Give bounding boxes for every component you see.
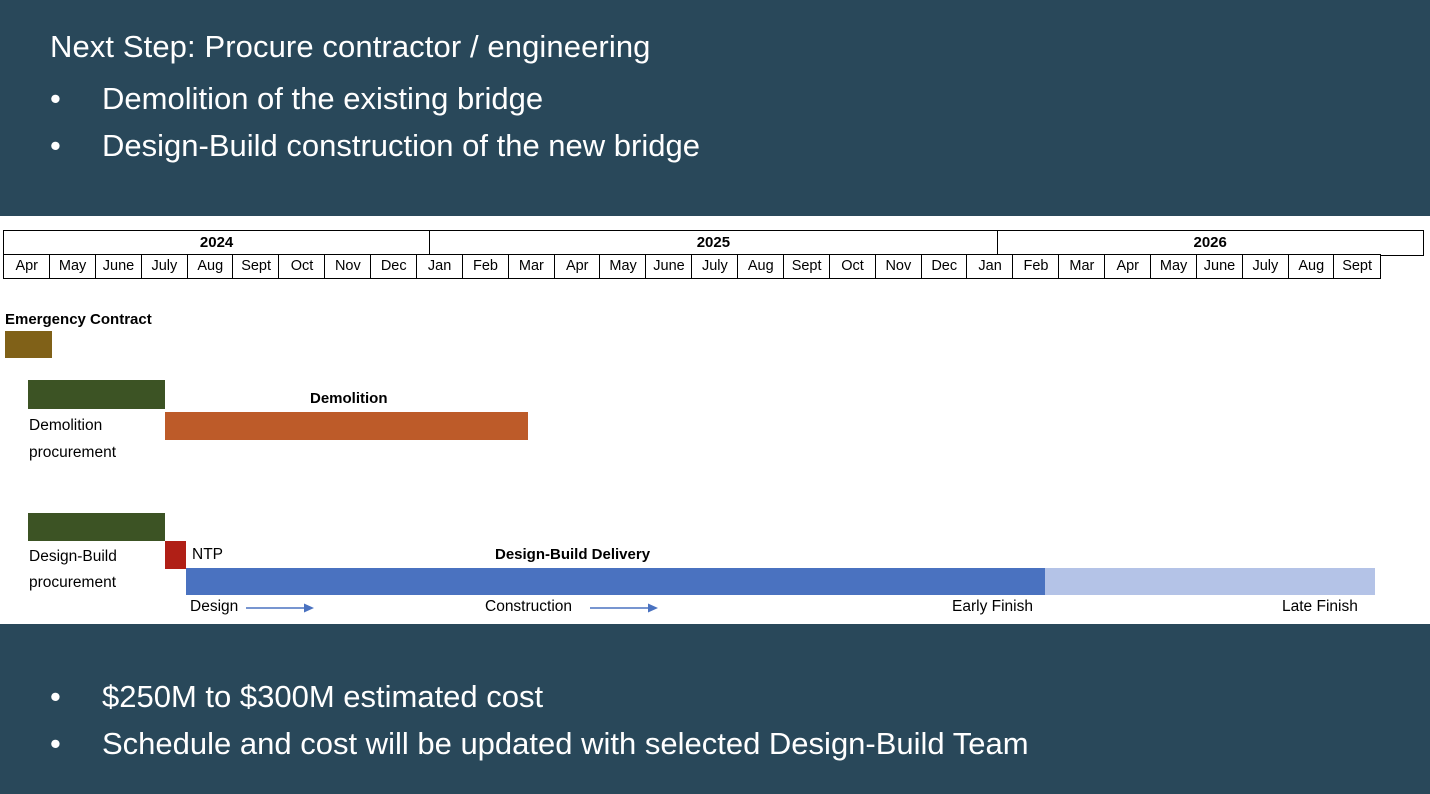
bar-demolition[interactable] (165, 412, 528, 440)
bar-demolition-procurement[interactable] (28, 380, 165, 409)
timeline-month-cell: Jan (966, 254, 1013, 279)
design-arrow-icon (246, 600, 314, 616)
bar-designbuild-delivery-early[interactable] (186, 568, 1045, 595)
timeline-month-cell: Apr (3, 254, 50, 279)
timeline-month-cell: Oct (278, 254, 325, 279)
timeline-month-cell: Feb (1012, 254, 1059, 279)
timeline-month-cell: Mar (508, 254, 555, 279)
timeline-month-cell: July (691, 254, 738, 279)
timeline-header: 2024 2025 2026 Apr May June July Aug Sep… (3, 230, 1427, 278)
timeline-month-cell: Dec (370, 254, 417, 279)
construction-annotation-label: Construction (485, 598, 572, 616)
bullet-dot-icon: • (50, 674, 61, 721)
timeline-month-cell: Aug (737, 254, 784, 279)
timeline-year-2025: 2025 (429, 230, 999, 256)
timeline-month-cell: May (599, 254, 646, 279)
list-item-label: Demolition of the existing bridge (102, 81, 543, 116)
timeline-month-cell: Apr (1104, 254, 1151, 279)
top-bullet-list: • Demolition of the existing bridge • De… (44, 76, 700, 169)
list-item: • $250M to $300M estimated cost (44, 674, 1029, 721)
designbuild-delivery-label: Design-Build Delivery (495, 546, 650, 563)
timeline-year-row: 2024 2025 2026 (3, 230, 1427, 254)
demolition-label: Demolition (310, 390, 388, 407)
timeline-month-cell: Nov (875, 254, 922, 279)
timeline-month-cell: May (49, 254, 96, 279)
bullet-dot-icon: • (50, 76, 61, 123)
bullet-dot-icon: • (50, 123, 61, 170)
list-item: • Design-Build construction of the new b… (44, 123, 700, 170)
list-item-label: Design-Build construction of the new bri… (102, 128, 700, 163)
timeline-month-cell: Oct (829, 254, 876, 279)
top-banner: Next Step: Procure contractor / engineer… (0, 0, 1430, 216)
timeline-month-cell: Aug (187, 254, 234, 279)
list-item: • Schedule and cost will be updated with… (44, 721, 1029, 768)
timeline-month-cell: July (141, 254, 188, 279)
list-item-label: Schedule and cost will be updated with s… (102, 726, 1029, 761)
timeline-month-row: Apr May June July Aug Sept Oct Nov Dec J… (3, 254, 1427, 277)
timeline-month-cell: Sept (232, 254, 279, 279)
timeline-month-cell: Nov (324, 254, 371, 279)
bottom-banner: • $250M to $300M estimated cost • Schedu… (0, 624, 1430, 794)
bar-designbuild-delivery-float[interactable] (1045, 568, 1375, 595)
timeline-month-cell: June (645, 254, 692, 279)
late-finish-label: Late Finish (1282, 598, 1358, 616)
page-title: Next Step: Procure contractor / engineer… (50, 28, 651, 66)
list-item: • Demolition of the existing bridge (44, 76, 700, 123)
emergency-contract-label: Emergency Contract (5, 311, 152, 328)
timeline-month-cell: June (95, 254, 142, 279)
design-annotation-label: Design (190, 598, 238, 616)
designbuild-procurement-label-line2: procurement (29, 570, 116, 596)
timeline-month-cell: Aug (1288, 254, 1335, 279)
demolition-procurement-label-line2: procurement (29, 440, 116, 466)
timeline-month-cell: Feb (462, 254, 509, 279)
timeline-month-cell: Sept (1333, 254, 1380, 279)
early-finish-label: Early Finish (952, 598, 1033, 616)
timeline-month-cell: May (1150, 254, 1197, 279)
ntp-label: NTP (192, 546, 223, 564)
timeline-month-cell: Apr (554, 254, 601, 279)
timeline-month-cell: Dec (921, 254, 968, 279)
construction-arrow-icon (590, 600, 658, 616)
timeline-month-cell: June (1196, 254, 1243, 279)
timeline-year-2026: 2026 (997, 230, 1424, 256)
bottom-bullet-list: • $250M to $300M estimated cost • Schedu… (44, 674, 1029, 767)
timeline-month-cell: Mar (1058, 254, 1105, 279)
designbuild-procurement-label-line1: Design-Build (29, 544, 117, 570)
demolition-procurement-label-line1: Demolition (29, 413, 102, 439)
list-item-label: $250M to $300M estimated cost (102, 679, 543, 714)
timeline-year-2024: 2024 (3, 230, 430, 256)
bar-emergency-contract[interactable] (5, 331, 52, 358)
timeline-month-cell: July (1242, 254, 1289, 279)
bar-ntp-milestone[interactable] (165, 541, 186, 569)
bullet-dot-icon: • (50, 721, 61, 768)
bar-designbuild-procurement[interactable] (28, 513, 165, 541)
timeline-month-cell: Jan (416, 254, 463, 279)
timeline-month-cell: Sept (783, 254, 830, 279)
